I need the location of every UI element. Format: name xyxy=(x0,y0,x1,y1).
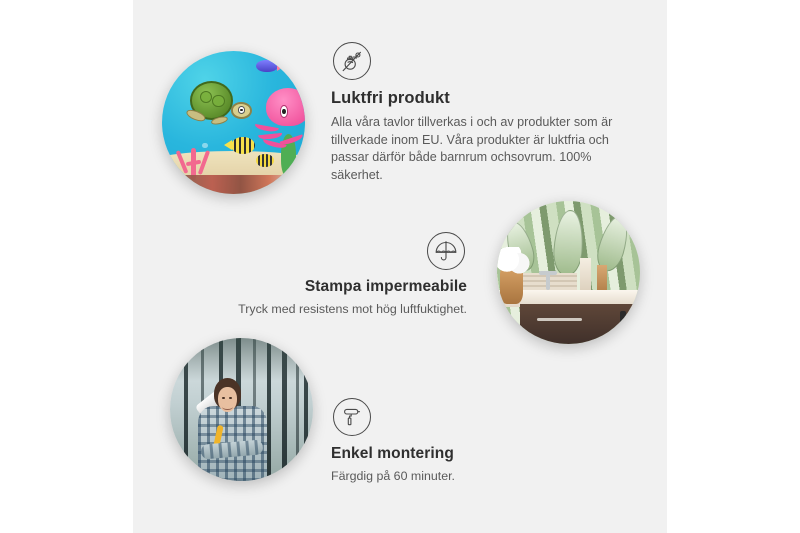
feature-body: Alla våra tavlor tillverkas i och av pro… xyxy=(331,114,621,184)
no-odour-spray-bottle-icon xyxy=(333,42,371,80)
fish-icon xyxy=(231,137,255,154)
turtle-icon xyxy=(182,81,248,130)
feature-title: Enkel montering xyxy=(331,445,601,463)
woman-figure xyxy=(193,378,273,481)
underwater-scene xyxy=(162,51,305,194)
coral-icon xyxy=(173,134,216,180)
fish-icon xyxy=(256,154,273,167)
flowers-icon xyxy=(497,247,531,276)
photo-bathroom-leaf-wallpaper xyxy=(497,201,640,344)
photo-underwater-cartoon-mural xyxy=(162,51,305,194)
infographic-page: Luktfri produkt Alla våra tavlor tillver… xyxy=(0,0,800,533)
feature-easy-mounting: Enkel montering Färgdig på 60 minuter. xyxy=(331,398,601,485)
feature-waterproof-print: Stampa impermeabile Tryck med resistens … xyxy=(185,232,467,318)
vanity-cabinet xyxy=(520,304,640,344)
bottle-icon xyxy=(580,258,591,289)
foreground-strip xyxy=(162,175,305,194)
feature-title: Stampa impermeabile xyxy=(185,278,467,296)
faucet-icon xyxy=(546,271,550,290)
paint-roller-icon xyxy=(333,398,371,436)
feature-body: Färgdig på 60 minuter. xyxy=(331,468,601,485)
feature-body: Tryck med resistens mot hög luftfuktighe… xyxy=(185,301,467,318)
umbrella-icon xyxy=(427,232,465,270)
feature-odour-free: Luktfri produkt Alla våra tavlor tillver… xyxy=(331,42,621,184)
bottle-icon xyxy=(597,265,607,289)
feature-title: Luktfri produkt xyxy=(331,89,621,108)
forest-canopy xyxy=(170,338,313,381)
octopus-icon xyxy=(254,88,305,154)
fish-icon xyxy=(256,60,277,73)
painter-scene xyxy=(170,338,313,481)
bathroom-scene xyxy=(497,201,640,344)
smile xyxy=(222,404,233,410)
photo-woman-with-paint-roller-forest-mural xyxy=(170,338,313,481)
